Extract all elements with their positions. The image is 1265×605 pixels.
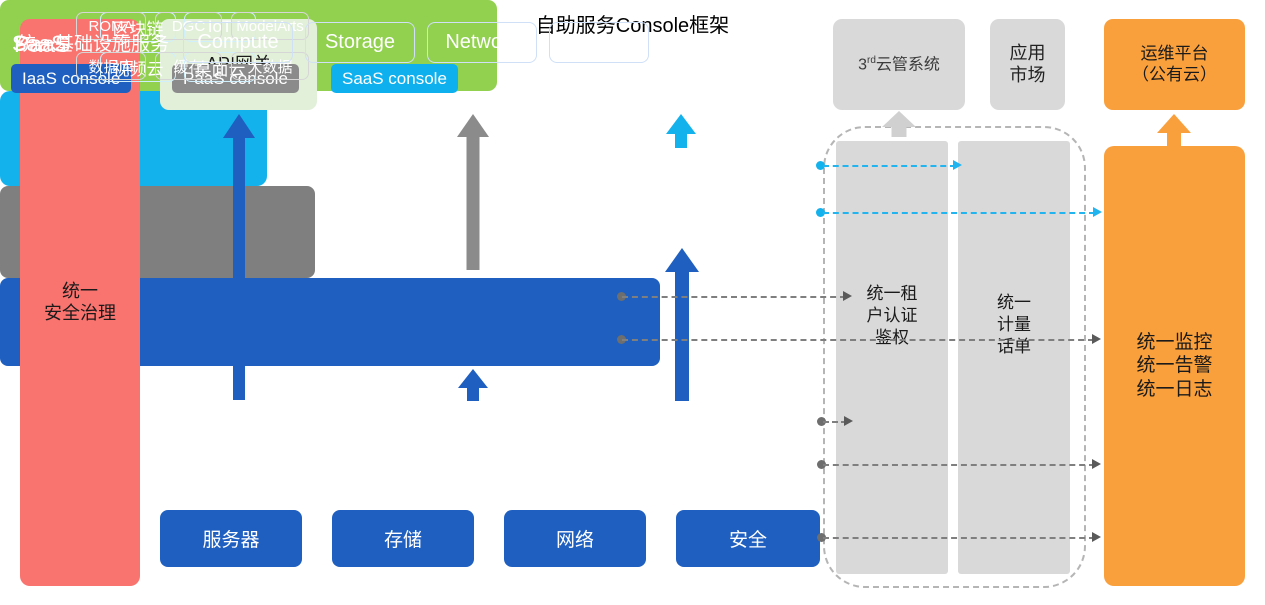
arrowhead-paas-to-ops — [1092, 334, 1101, 344]
saas-console-badge[interactable]: SaaS console — [331, 64, 458, 93]
app-market-text: 应用 市场 — [1010, 43, 1046, 87]
ops-platform-top-text: 运维平台 （公有云） — [1132, 44, 1217, 85]
metering-line-1: 统一 — [958, 292, 1070, 314]
infra-item-storage[interactable]: Storage — [305, 22, 415, 63]
ops-platform-line-1: 运维平台 — [1132, 44, 1217, 65]
third-party-cloud-management-box: 3rd云管系统 — [833, 19, 965, 110]
hardware-box-security[interactable]: 安全 — [676, 510, 820, 567]
arrow-infra-to-saas — [665, 248, 699, 401]
unified-security-governance-panel: 统一 安全治理 — [20, 19, 140, 586]
application-market-box: 应用 市场 — [990, 19, 1065, 110]
security-line-1: 统一 — [44, 281, 116, 303]
arrowhead-saas-to-ops — [1093, 207, 1102, 217]
infra-item-network[interactable]: Network — [427, 22, 537, 63]
arrow-infra-to-paas — [457, 369, 489, 401]
arrowhead-hardware-to-ops — [1092, 532, 1101, 542]
paas-item-database[interactable]: 数据库 — [76, 52, 146, 80]
ops-main-line-3: 统一日志 — [1136, 378, 1212, 401]
infrastructure-label: 统一基础设施服务 — [17, 29, 169, 56]
security-panel-text: 统一 安全治理 — [44, 281, 116, 325]
hardware-box-server[interactable]: 服务器 — [160, 510, 302, 567]
arrow-ops-main-to-ops-top — [1157, 114, 1191, 146]
ops-main-line-1: 统一监控 — [1136, 331, 1212, 354]
metering-line-2: 计量 — [958, 314, 1070, 336]
auth-line-1: 统一租 — [836, 283, 948, 305]
arrow-saas-to-saas-console — [665, 114, 697, 148]
arrowhead-infra-to-ops — [1092, 459, 1101, 469]
arrow-paas-to-paas-console — [457, 114, 489, 270]
arrowhead-saas-to-metering — [953, 160, 962, 170]
ops-main-text: 统一监控 统一告警 统一日志 — [1136, 331, 1212, 401]
security-line-2: 安全治理 — [44, 303, 116, 325]
arrow-shared-to-third-cloud — [882, 111, 916, 137]
dashed-infra-to-ops — [823, 464, 1095, 466]
dashed-saas-to-ops — [823, 212, 1095, 214]
ops-main-line-2: 统一告警 — [1136, 354, 1212, 377]
arrowhead-infra-to-auth — [844, 416, 853, 426]
ops-monitoring-alarm-log-panel: 统一监控 统一告警 统一日志 — [1104, 146, 1245, 586]
dashed-saas-to-metering — [823, 165, 956, 167]
hardware-box-storage[interactable]: 存储 — [332, 510, 474, 567]
ops-platform-public-cloud-box: 运维平台 （公有云） — [1104, 19, 1245, 110]
hardware-box-network[interactable]: 网络 — [504, 510, 646, 567]
dashed-hardware-to-ops — [823, 537, 1095, 539]
dashed-paas-to-auth — [622, 296, 846, 298]
app-market-line-1: 应用 — [1010, 43, 1046, 65]
auth-line-2: 户认证 — [836, 305, 948, 327]
dashed-paas-to-ops — [622, 339, 1094, 341]
architecture-diagram: 统一 安全治理 API网关 自助服务Console框架 IaaS console… — [0, 0, 1265, 605]
infra-item-compute[interactable]: Compute — [183, 22, 293, 63]
ops-platform-line-2: （公有云） — [1132, 65, 1217, 86]
arrowhead-paas-to-auth — [843, 291, 852, 301]
third-cloud-label: 3rd云管系统 — [858, 55, 940, 75]
arrow-infra-to-api-gateway — [223, 114, 255, 400]
infra-item-cce[interactable]: CCE — [549, 22, 649, 63]
metering-column-label: 统一 计量 话单 — [958, 292, 1070, 358]
app-market-line-2: 市场 — [1010, 65, 1046, 87]
unified-tenant-auth-column — [836, 141, 948, 574]
